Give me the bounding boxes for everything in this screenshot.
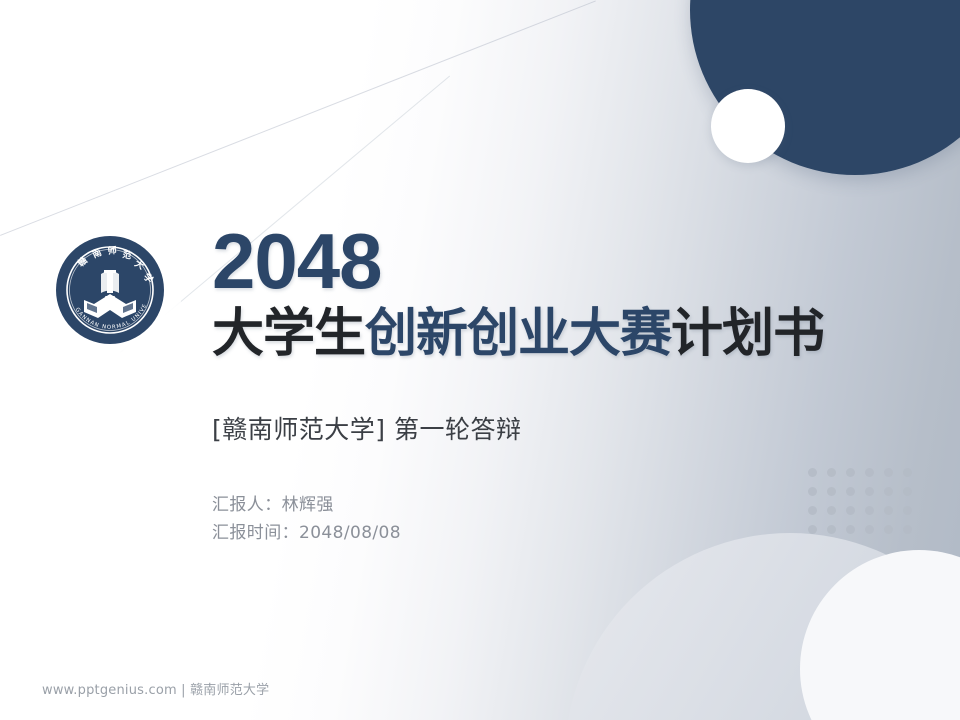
date-line: 汇报时间：2048/08/08 <box>212 520 912 548</box>
subtitle: [赣南师范大学] 第一轮答辩 <box>212 410 912 446</box>
diagonal-crease-line <box>0 0 596 235</box>
university-logo: 赣 南 师 范 大 学 GANNAN NORMAL UNIVERSITY <box>38 218 182 362</box>
university-seal-icon: 赣 南 师 范 大 学 GANNAN NORMAL UNIVERSITY <box>54 234 166 346</box>
meta-block: 汇报人：林辉强 汇报时间：2048/08/08 <box>212 492 912 547</box>
title-segment-0: 大学生 <box>212 304 365 364</box>
presenter-line: 汇报人：林辉强 <box>212 492 912 520</box>
presentation-slide: 赣 南 师 范 大 学 GANNAN NORMAL UNIVERSITY <box>0 0 960 720</box>
title-block: 2048 大学生创新创业大赛计划书 [赣南师范大学] 第一轮答辩 汇报人：林辉强… <box>212 222 912 547</box>
footer-credit: www.pptgenius.com | 赣南师范大学 <box>42 679 269 698</box>
svg-text:师: 师 <box>107 244 117 257</box>
page-title: 大学生创新创业大赛计划书 <box>212 306 912 362</box>
year-heading: 2048 <box>212 222 912 300</box>
title-segment-1: 创新创业大赛 <box>365 304 671 364</box>
title-segment-2: 计划书 <box>671 304 824 364</box>
white-dot-decoration <box>711 89 785 163</box>
